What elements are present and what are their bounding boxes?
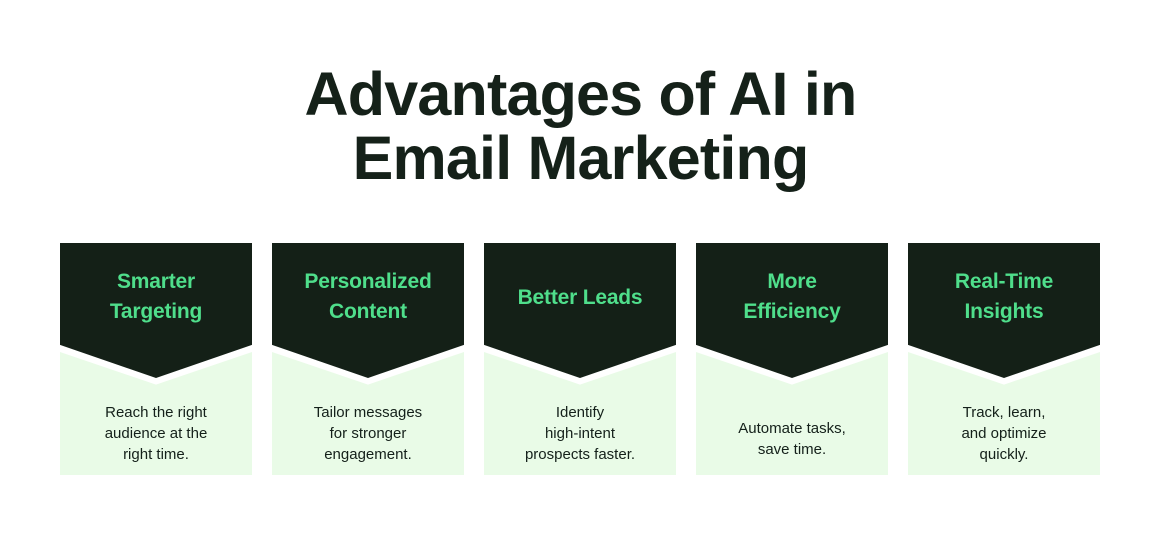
card-description-area: Track, learn, and optimize quickly. (908, 352, 1100, 475)
advantage-card-better-leads[interactable]: Better Leads Identify high-intent prospe… (484, 243, 676, 475)
card-description: Automate tasks, save time. (738, 418, 846, 460)
advantage-card-smarter-targeting[interactable]: Smarter Targeting Reach the right audien… (60, 243, 252, 475)
card-description-area: Identify high-intent prospects faster. (484, 352, 676, 475)
infographic-canvas: Advantages of AI in Email Marketing Smar… (0, 0, 1161, 552)
card-description: Identify high-intent prospects faster. (525, 402, 635, 465)
card-description-area: Reach the right audience at the right ti… (60, 352, 252, 475)
card-description: Reach the right audience at the right ti… (105, 402, 208, 465)
page-title-line-1: Advantages of AI in (0, 62, 1161, 126)
advantage-card-more-efficiency[interactable]: More Efficiency Automate tasks, save tim… (696, 243, 888, 475)
advantage-card-real-time-insights[interactable]: Real-Time Insights Track, learn, and opt… (908, 243, 1100, 475)
card-description: Track, learn, and optimize quickly. (961, 402, 1046, 465)
card-description-area: Tailor messages for stronger engagement. (272, 352, 464, 475)
card-title: Personalized Content (278, 267, 458, 327)
card-title: Real-Time Insights (914, 267, 1094, 327)
advantage-cards-row: Smarter Targeting Reach the right audien… (60, 243, 1100, 475)
card-title: More Efficiency (702, 267, 882, 327)
card-description-area: Automate tasks, save time. (696, 352, 888, 475)
page-title: Advantages of AI in Email Marketing (0, 62, 1161, 190)
card-title: Smarter Targeting (66, 267, 246, 327)
page-title-line-2: Email Marketing (0, 126, 1161, 190)
card-description: Tailor messages for stronger engagement. (314, 402, 422, 465)
card-title: Better Leads (490, 283, 670, 313)
advantage-card-personalized-content[interactable]: Personalized Content Tailor messages for… (272, 243, 464, 475)
